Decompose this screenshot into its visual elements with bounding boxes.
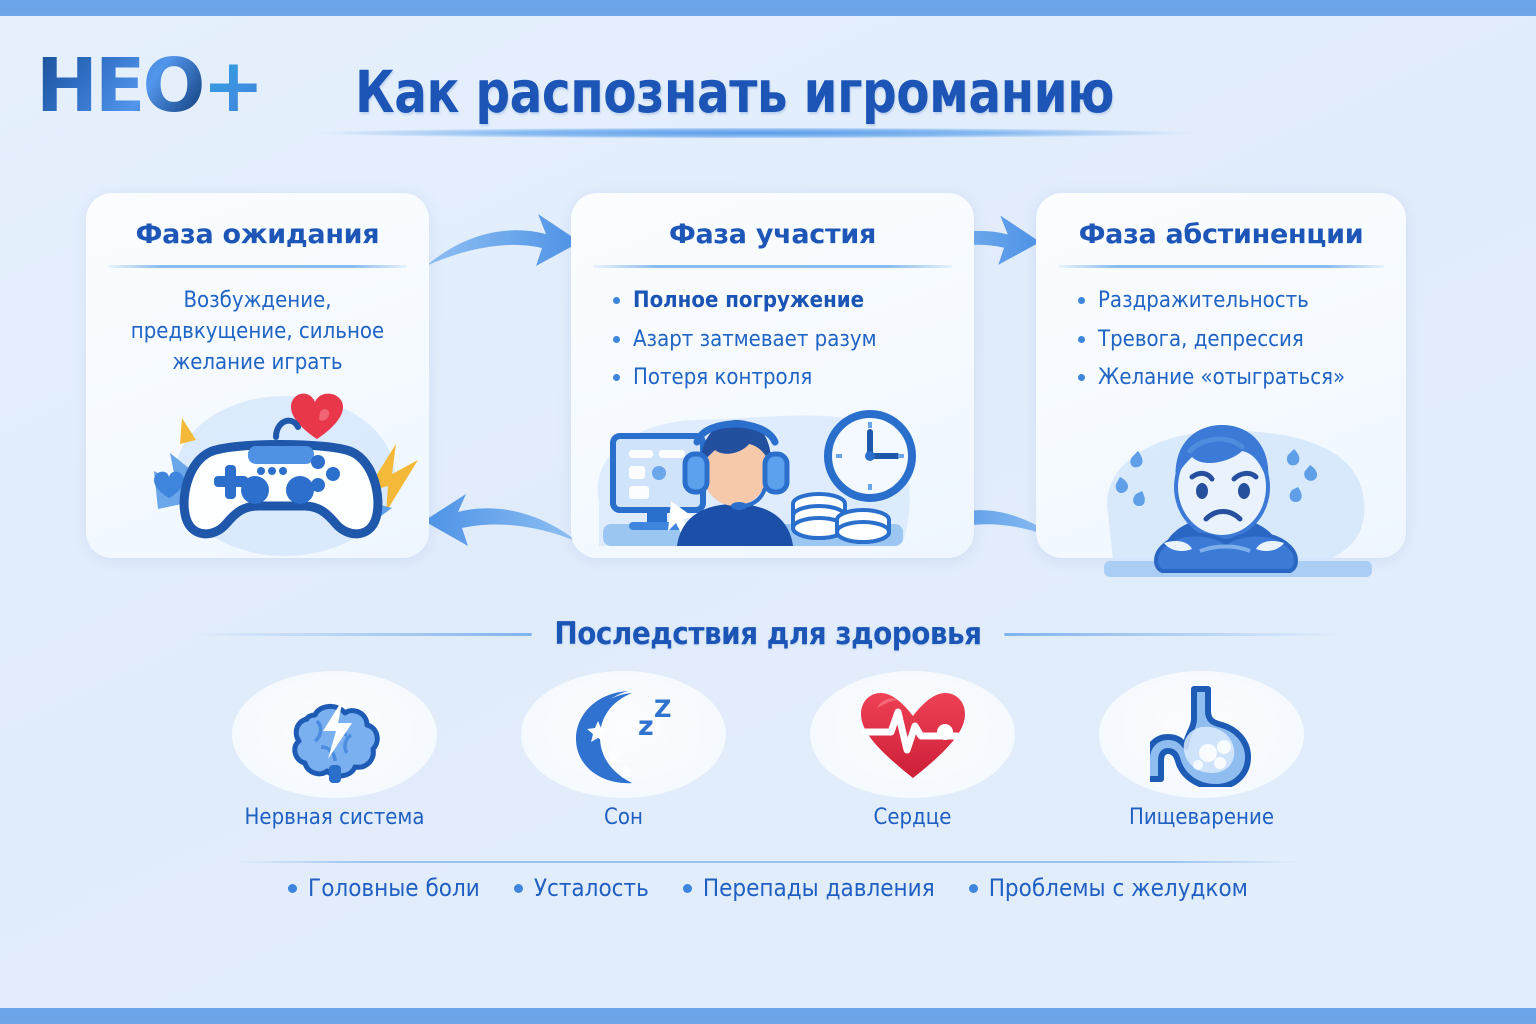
health-item-digestion[interactable]: Пищеварение [1099,671,1304,830]
phase-bullet-list: Раздражительность Тревога, депрессия Жел… [1056,285,1386,395]
symptoms-divider [236,861,1300,863]
infographic-canvas: НЕО+ Как распознать игроманию [0,16,1536,1008]
phase-card-title: Фаза абстиненции [1036,219,1406,250]
sad-person-illustration [1098,421,1378,586]
bullet-dot-icon [514,884,523,893]
health-label: Пищеварение [1099,805,1304,830]
consequences-title: Последствия для здоровья [554,616,981,652]
list-item: Полное погружение [607,285,954,318]
symptom-item: Усталость [514,874,649,902]
symptom-item: Перепады давления [683,874,935,902]
stomach-icon [1150,683,1254,787]
bullet-dot-icon [683,884,692,893]
bullet-dot-icon [288,884,297,893]
icon-blob [1099,671,1304,798]
symptom-item: Головные боли [288,874,480,902]
heading-rule-left [192,633,532,636]
bullet-dot-icon [969,884,978,893]
list-item: Желание «отыграться» [1072,362,1386,395]
bottom-frame-bar [0,1008,1536,1024]
top-frame-bar [0,0,1536,16]
list-item: Раздражительность [1072,285,1386,318]
gamepad-heart-illustration [130,384,430,574]
card-divider [108,265,407,268]
phase-card-title: Фаза ожидания [86,219,429,250]
brain-lightning-icon [281,685,389,785]
consequences-heading: Последствия для здоровья [0,616,1536,652]
health-label: Сон [521,805,726,830]
icon-blob: z Z [521,671,726,798]
svg-text:Z: Z [654,695,671,723]
health-icons-row: Нервная система z Z Сон [232,671,1304,830]
symptom-item: Проблемы с желудком [969,874,1248,902]
symptoms-row: Головные боли Усталость Перепады давлени… [0,874,1536,902]
phase-card-paragraph: Возбуждение, предвкущение, сильное желан… [106,285,409,379]
svg-text:z: z [638,711,654,742]
health-item-heart[interactable]: Сердце [810,671,1015,830]
gamer-monitor-clock-coins-illustration [585,406,920,581]
list-item: Тревога, депрессия [1072,324,1386,357]
symptom-label: Перепады давления [703,874,935,902]
list-item: Азарт затмевает разум [607,324,954,357]
icon-blob [810,671,1015,798]
list-item: Потеря контроля [607,362,954,395]
symptom-label: Усталость [534,874,649,902]
icon-blob [232,671,437,798]
health-item-sleep[interactable]: z Z Сон [521,671,726,830]
heading-rule-right [1004,633,1344,636]
card-divider [1058,265,1384,268]
symptom-label: Проблемы с желудком [989,874,1248,902]
card-divider [593,265,952,268]
health-item-nervous-system[interactable]: Нервная система [232,671,437,830]
moon-zzz-icon: z Z [568,685,680,785]
heart-ecg-icon [857,686,969,784]
phase-bullet-list: Полное погружение Азарт затмевает разум … [591,285,954,395]
health-label: Нервная система [232,805,437,830]
symptom-label: Головные боли [308,874,480,902]
health-label: Сердце [810,805,1015,830]
phase-card-title: Фаза участия [571,219,974,250]
